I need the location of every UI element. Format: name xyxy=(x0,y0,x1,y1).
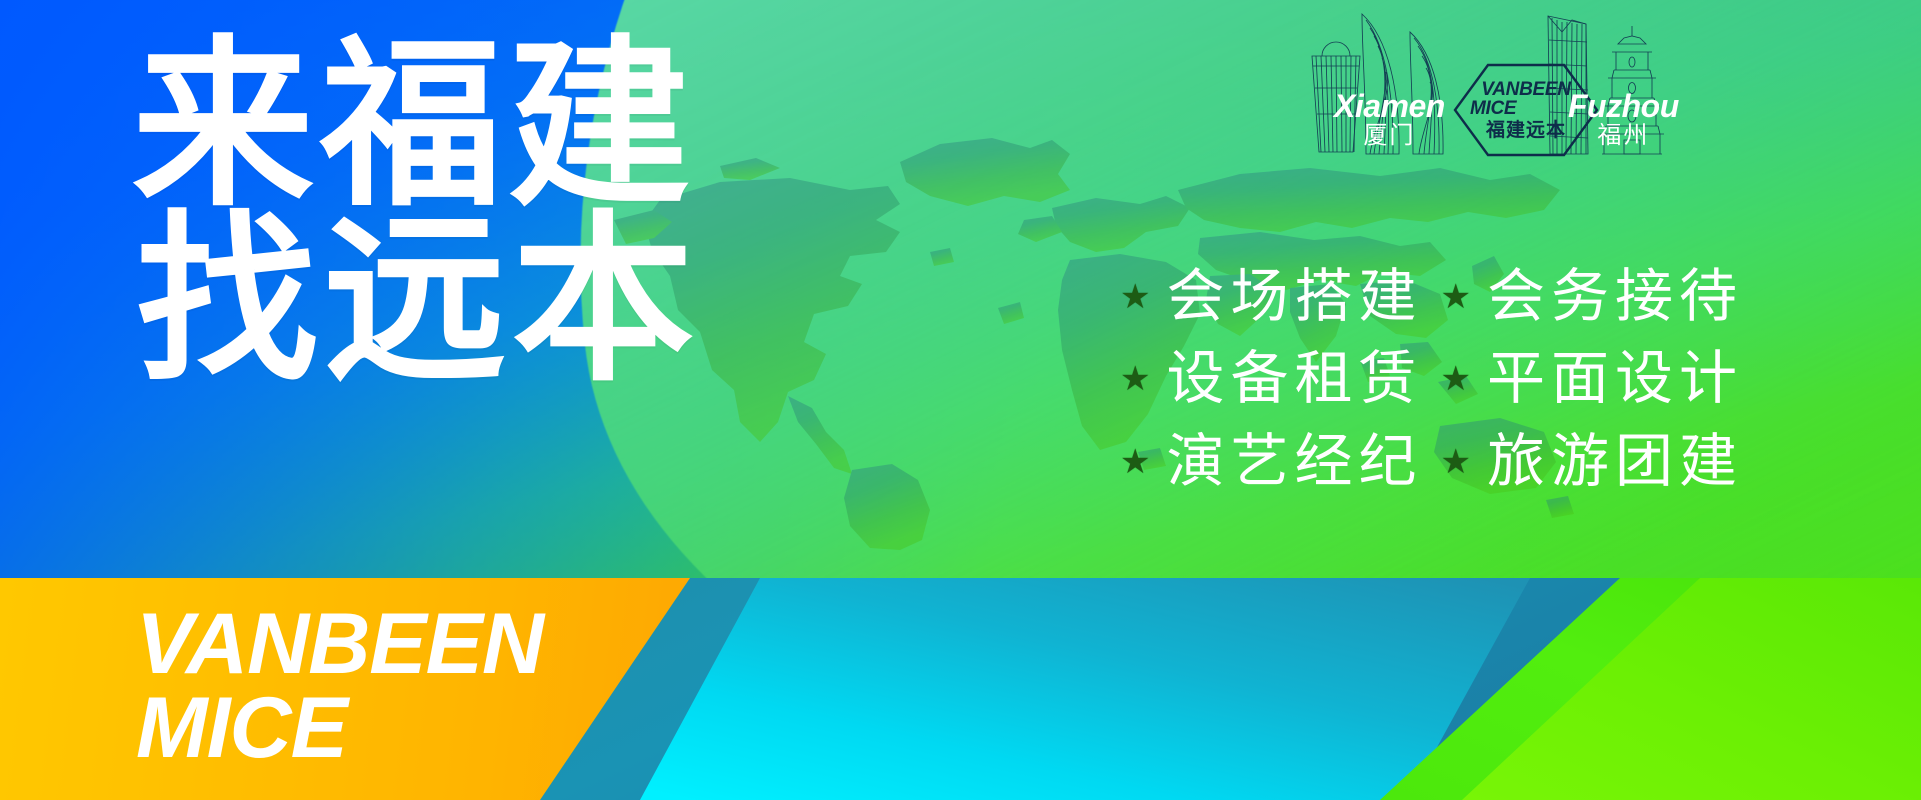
star-icon: ★ xyxy=(1441,445,1471,479)
city-label-xiamen: Xiamen 厦门 xyxy=(1334,90,1445,148)
logo-line-1: VANBEEN xyxy=(1481,80,1570,99)
ribbon-wordmark: VANBEEN MICE xyxy=(136,602,543,771)
service-item: ★ 旅游团建 xyxy=(1441,423,1744,501)
service-item: ★ 设备租赁 xyxy=(1120,340,1423,418)
logo-line-2: MICE xyxy=(1470,99,1516,118)
service-item: ★ 会场搭建 xyxy=(1120,258,1423,336)
headline: 来福建 找远本 xyxy=(132,38,700,387)
service-list: ★ 会场搭建 ★ 会务接待 ★ 设备租赁 ★ 平面设计 ★ 演艺经纪 ★ 旅游团… xyxy=(1120,258,1743,501)
headline-line-2: 找远本 xyxy=(136,213,700,388)
star-icon: ★ xyxy=(1441,362,1471,396)
city-name-en: Xiamen xyxy=(1334,90,1445,123)
city-label-fuzhou: Fuzhou 福州 xyxy=(1568,90,1679,148)
service-label: 设备租赁 xyxy=(1166,340,1422,418)
star-icon: ★ xyxy=(1120,362,1150,396)
service-item: ★ 平面设计 xyxy=(1441,340,1744,418)
banner-main-stage: 来福建 找远本 ★ 会场搭建 ★ 会务接待 ★ 设备租赁 ★ 平面设计 ★ xyxy=(0,0,1921,578)
service-item: ★ 会务接待 xyxy=(1441,258,1744,336)
star-icon: ★ xyxy=(1120,280,1150,314)
promo-banner: 来福建 找远本 ★ 会场搭建 ★ 会务接待 ★ 设备租赁 ★ 平面设计 ★ xyxy=(0,0,1921,800)
service-label: 旅游团建 xyxy=(1487,423,1743,501)
city-landmark-cluster: VANBEEN MICE 福建远本 Xiamen 厦门 Fuzhou 福州 xyxy=(1300,4,1750,189)
star-icon: ★ xyxy=(1441,280,1471,314)
service-label: 平面设计 xyxy=(1487,340,1743,418)
ribbon-line-2: MICE xyxy=(136,686,543,770)
ribbon-line-1: VANBEEN xyxy=(136,602,543,686)
headline-line-1: 来福建 xyxy=(132,38,700,213)
bottom-ribbon: VANBEEN MICE xyxy=(0,578,1921,800)
service-label: 会务接待 xyxy=(1487,258,1743,336)
service-label: 演艺经纪 xyxy=(1166,423,1422,501)
service-label: 会场搭建 xyxy=(1166,258,1422,336)
city-name-cn: 福州 xyxy=(1568,124,1679,148)
service-item: ★ 演艺经纪 xyxy=(1120,423,1423,501)
star-icon: ★ xyxy=(1120,445,1150,479)
city-name-en: Fuzhou xyxy=(1568,90,1679,123)
logo-line-3: 福建远本 xyxy=(1486,121,1566,140)
city-name-cn: 厦门 xyxy=(1334,124,1445,148)
